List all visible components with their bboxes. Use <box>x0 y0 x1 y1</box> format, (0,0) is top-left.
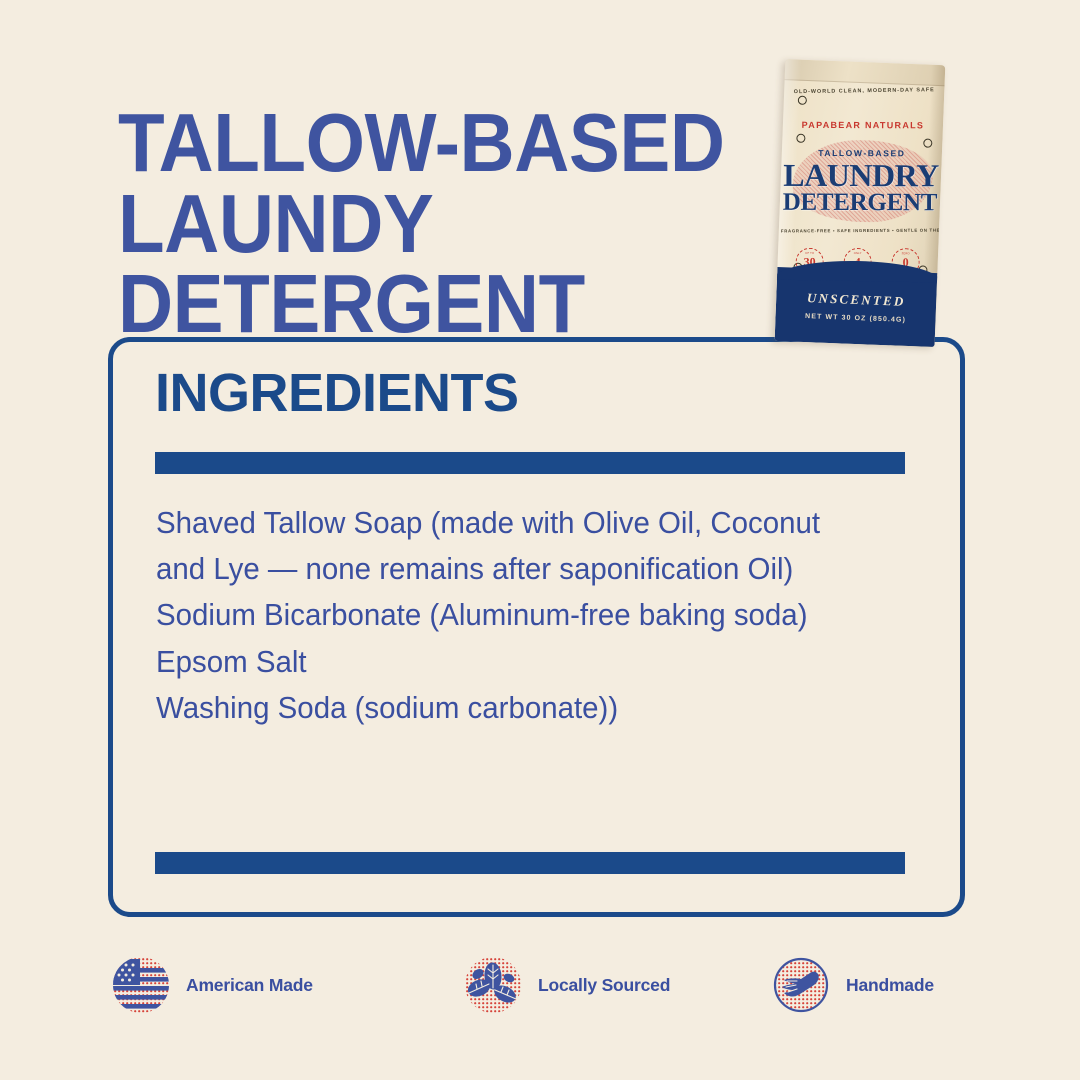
hand-icon <box>770 954 832 1016</box>
ingredient-item: Epsom Salt <box>156 639 821 685</box>
ingredients-list: Shaved Tallow Soap (made with Olive Oil,… <box>156 500 821 731</box>
package-navy-band: UNSCENTED NET WT 30 OZ (850.4G) <box>775 267 938 347</box>
product-package-image: OLD-WORLD CLEAN, MODERN-DAY SAFE PAPABEA… <box>772 52 944 352</box>
pouch-top-seal <box>785 59 946 86</box>
package-tagline: OLD-WORLD CLEAN, MODERN-DAY SAFE <box>784 87 944 95</box>
badge-handmade: Handmade <box>770 954 934 1016</box>
badge-american-made: American Made <box>110 954 313 1016</box>
headline-line-2: LAUNDY DETERGENT <box>118 184 762 345</box>
package-feature-strip: FRAGRANCE-FREE • SAFE INGREDIENTS • GENT… <box>781 228 937 234</box>
badge-label: Locally Sourced <box>538 975 670 996</box>
poster-canvas: TALLOW-BASED LAUNDY DETERGENT OLD-WORLD … <box>0 0 1080 1080</box>
leaves-icon <box>462 954 524 1016</box>
divider-bottom <box>155 852 905 874</box>
badge-label: American Made <box>186 975 313 996</box>
american-flag-icon <box>110 954 172 1016</box>
pouch-dot-icon <box>798 96 807 105</box>
pouch-dot-icon <box>796 134 805 143</box>
headline-line-1: TALLOW-BASED <box>118 96 725 189</box>
package-net-weight: NET WT 30 OZ (850.4G) <box>775 312 935 325</box>
package-scent: UNSCENTED <box>776 289 936 311</box>
page-title: TALLOW-BASED LAUNDY DETERGENT <box>118 103 762 345</box>
brand-name: PAPABEAR NATURALS <box>783 120 943 131</box>
divider-top <box>155 452 905 474</box>
ingredients-heading: INGREDIENTS <box>155 362 519 424</box>
trust-badge-row: American Made <box>0 945 1080 1025</box>
package-product-line-1: LAUNDRY <box>781 159 941 192</box>
ingredient-item: Shaved Tallow Soap (made with Olive Oil,… <box>156 500 821 592</box>
badge-locally-sourced: Locally Sourced <box>462 954 670 1016</box>
badge-label: Handmade <box>846 975 934 996</box>
package-product-line-2: DETERGENT <box>780 190 940 216</box>
ingredient-item: Washing Soda (sodium carbonate)) <box>156 685 821 731</box>
ingredient-item: Sodium Bicarbonate (Aluminum-free baking… <box>156 592 821 638</box>
